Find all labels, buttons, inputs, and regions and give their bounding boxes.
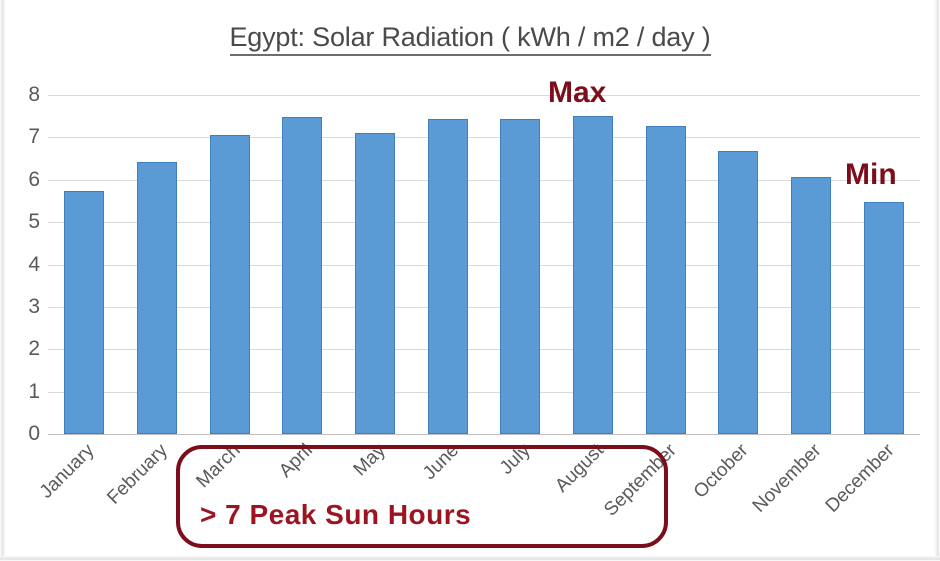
x-axis-tick-label: August: [551, 440, 608, 497]
bar[interactable]: [791, 177, 831, 434]
bar[interactable]: [282, 117, 322, 434]
max-annotation-label: Max: [548, 76, 606, 110]
x-axis-tick-label: September: [600, 440, 681, 521]
y-axis-tick-label: 5: [6, 211, 40, 232]
x-axis-tick-label: March: [192, 440, 245, 493]
bar[interactable]: [428, 119, 468, 434]
x-axis: JanuaryFebruaryMarchAprilMayJuneJulyAugu…: [48, 434, 920, 561]
bar[interactable]: [137, 162, 177, 434]
x-axis-tick-label: November: [749, 440, 827, 518]
y-axis-tick-label: 4: [6, 254, 40, 275]
x-axis-tick-label: July: [496, 440, 535, 479]
y-axis-tick-label: 0: [6, 423, 40, 444]
bar[interactable]: [500, 119, 540, 434]
y-axis-tick-label: 8: [6, 84, 40, 105]
x-axis-tick-label: April: [275, 440, 317, 482]
bars-layer: [48, 95, 920, 434]
bar[interactable]: [718, 151, 758, 434]
y-axis-tick-label: 3: [6, 296, 40, 317]
x-axis-tick-label: December: [821, 440, 899, 518]
chart-title: Egypt: Solar Radiation ( kWh / m2 / day …: [0, 22, 940, 53]
y-axis-tick-label: 1: [6, 381, 40, 402]
y-axis-tick-label: 7: [6, 126, 40, 147]
min-annotation-label: Min: [845, 158, 897, 192]
bar[interactable]: [64, 191, 104, 434]
y-axis-tick-label: 6: [6, 169, 40, 190]
bar[interactable]: [210, 135, 250, 434]
frame-border-right: [934, 0, 940, 561]
y-axis: 876543210: [0, 95, 40, 434]
x-axis-tick-label: May: [350, 440, 391, 481]
bar[interactable]: [646, 126, 686, 434]
y-axis-tick-label: 2: [6, 338, 40, 359]
x-axis-tick-label: February: [103, 440, 172, 509]
bar[interactable]: [573, 116, 613, 434]
x-axis-tick-label: June: [419, 440, 464, 485]
bar[interactable]: [355, 133, 395, 434]
x-axis-tick-label: January: [36, 440, 99, 503]
x-axis-tick-label: October: [690, 440, 753, 503]
peak-sun-hours-label: > 7 Peak Sun Hours: [200, 499, 471, 531]
bar[interactable]: [864, 202, 904, 434]
chart-title-text: Egypt: Solar Radiation ( kWh / m2 / day …: [230, 22, 711, 56]
chart-container: Egypt: Solar Radiation ( kWh / m2 / day …: [0, 0, 940, 561]
